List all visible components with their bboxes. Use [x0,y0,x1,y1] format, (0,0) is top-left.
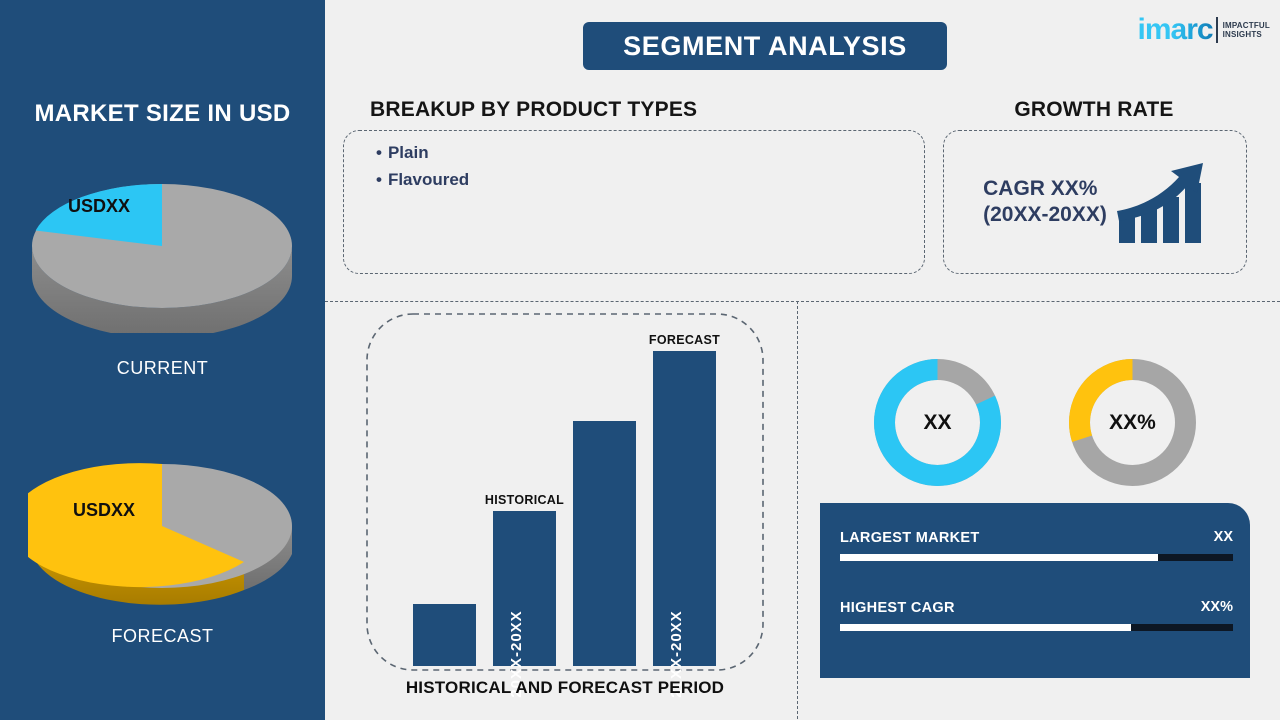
infographic-canvas: MARKET SIZE IN USD USDXX CURRENT [0,0,1280,720]
stat-highest-cagr-label: HIGHEST CAGR [840,600,955,616]
growth-rate-heading: GROWTH RATE [943,98,1245,122]
stat-largest-market-label: LARGEST MARKET [840,530,980,546]
bar-chart-plot: HISTORICAL 20XX-20XX FORECAST 20XX-20XX [365,312,765,686]
logo-tagline: IMPACTFUL INSIGHTS [1223,21,1270,39]
cagr-period: (20XX-20XX) [983,202,1107,228]
growth-rate-content: CAGR XX% (20XX-20XX) [944,131,1246,273]
logo-tagline-line1: IMPACTFUL [1223,21,1270,30]
donut-left-value: XX [870,355,1005,490]
stat-highest-cagr-fill [840,624,1131,631]
breakup-list: •Plain •Flavoured [376,143,469,197]
stat-highest-cagr-track [840,624,1233,631]
vertical-divider [797,301,798,719]
sidebar-market-size: MARKET SIZE IN USD USDXX CURRENT [0,0,325,720]
stat-largest-market-fill [840,554,1158,561]
page-title: SEGMENT ANALYSIS [623,31,907,62]
bar-2-top-label: HISTORICAL [485,493,564,507]
bar-4: FORECAST 20XX-20XX [653,351,716,666]
list-item-label: Plain [388,143,429,162]
cagr-text: CAGR XX% (20XX-20XX) [983,176,1107,229]
cagr-value: CAGR XX% [983,176,1107,202]
content-area: SEGMENT ANALYSIS imarc IMPACTFUL INSIGHT… [325,0,1280,720]
stat-highest-cagr: HIGHEST CAGR XX% [840,599,1233,631]
stat-largest-market: LARGEST MARKET XX [840,529,1233,561]
list-item: •Flavoured [376,170,469,190]
pie-forecast-caption: FORECAST [0,626,325,647]
donut-chart-right: XX% [1065,355,1200,490]
donut-right-value: XX% [1065,355,1200,490]
list-item: •Plain [376,143,469,163]
breakup-heading: BREAKUP BY PRODUCT TYPES [370,98,697,122]
bar-3 [573,421,636,666]
stat-highest-cagr-value: XX% [1201,599,1233,615]
growth-rate-box: CAGR XX% (20XX-20XX) [943,130,1247,274]
donut-chart-left: XX [870,355,1005,490]
bar-chart-panel: HISTORICAL 20XX-20XX FORECAST 20XX-20XX … [365,312,765,686]
breakup-box: •Plain •Flavoured [343,130,925,274]
bullet-icon: • [376,143,382,162]
bar-chart-caption: HISTORICAL AND FORECAST PERIOD [365,678,765,698]
logo-wordmark: imarc [1138,15,1213,45]
page-title-banner: SEGMENT ANALYSIS [583,22,947,70]
growth-arrow-bars-icon [1115,159,1207,250]
imarc-logo: imarc IMPACTFUL INSIGHTS [1138,12,1270,48]
logo-tagline-line2: INSIGHTS [1223,30,1270,39]
stats-panel: LARGEST MARKET XX HIGHEST CAGR XX% [820,503,1250,678]
horizontal-divider [325,301,1280,302]
bar-1 [413,604,476,666]
bullet-icon: • [376,170,382,189]
stat-largest-market-value: XX [1214,529,1233,545]
pie-chart-current: USDXX [28,158,296,338]
sidebar-title: MARKET SIZE IN USD [0,100,325,128]
logo-divider [1216,17,1218,43]
pie-current-caption: CURRENT [0,358,325,379]
bar-2: HISTORICAL 20XX-20XX [493,511,556,666]
pie-current-svg [28,158,296,333]
list-item-label: Flavoured [388,170,469,189]
pie-forecast-svg [28,438,296,613]
bar-4-top-label: FORECAST [649,333,720,347]
pie-chart-forecast: USDXX [28,438,296,618]
stat-largest-market-track [840,554,1233,561]
